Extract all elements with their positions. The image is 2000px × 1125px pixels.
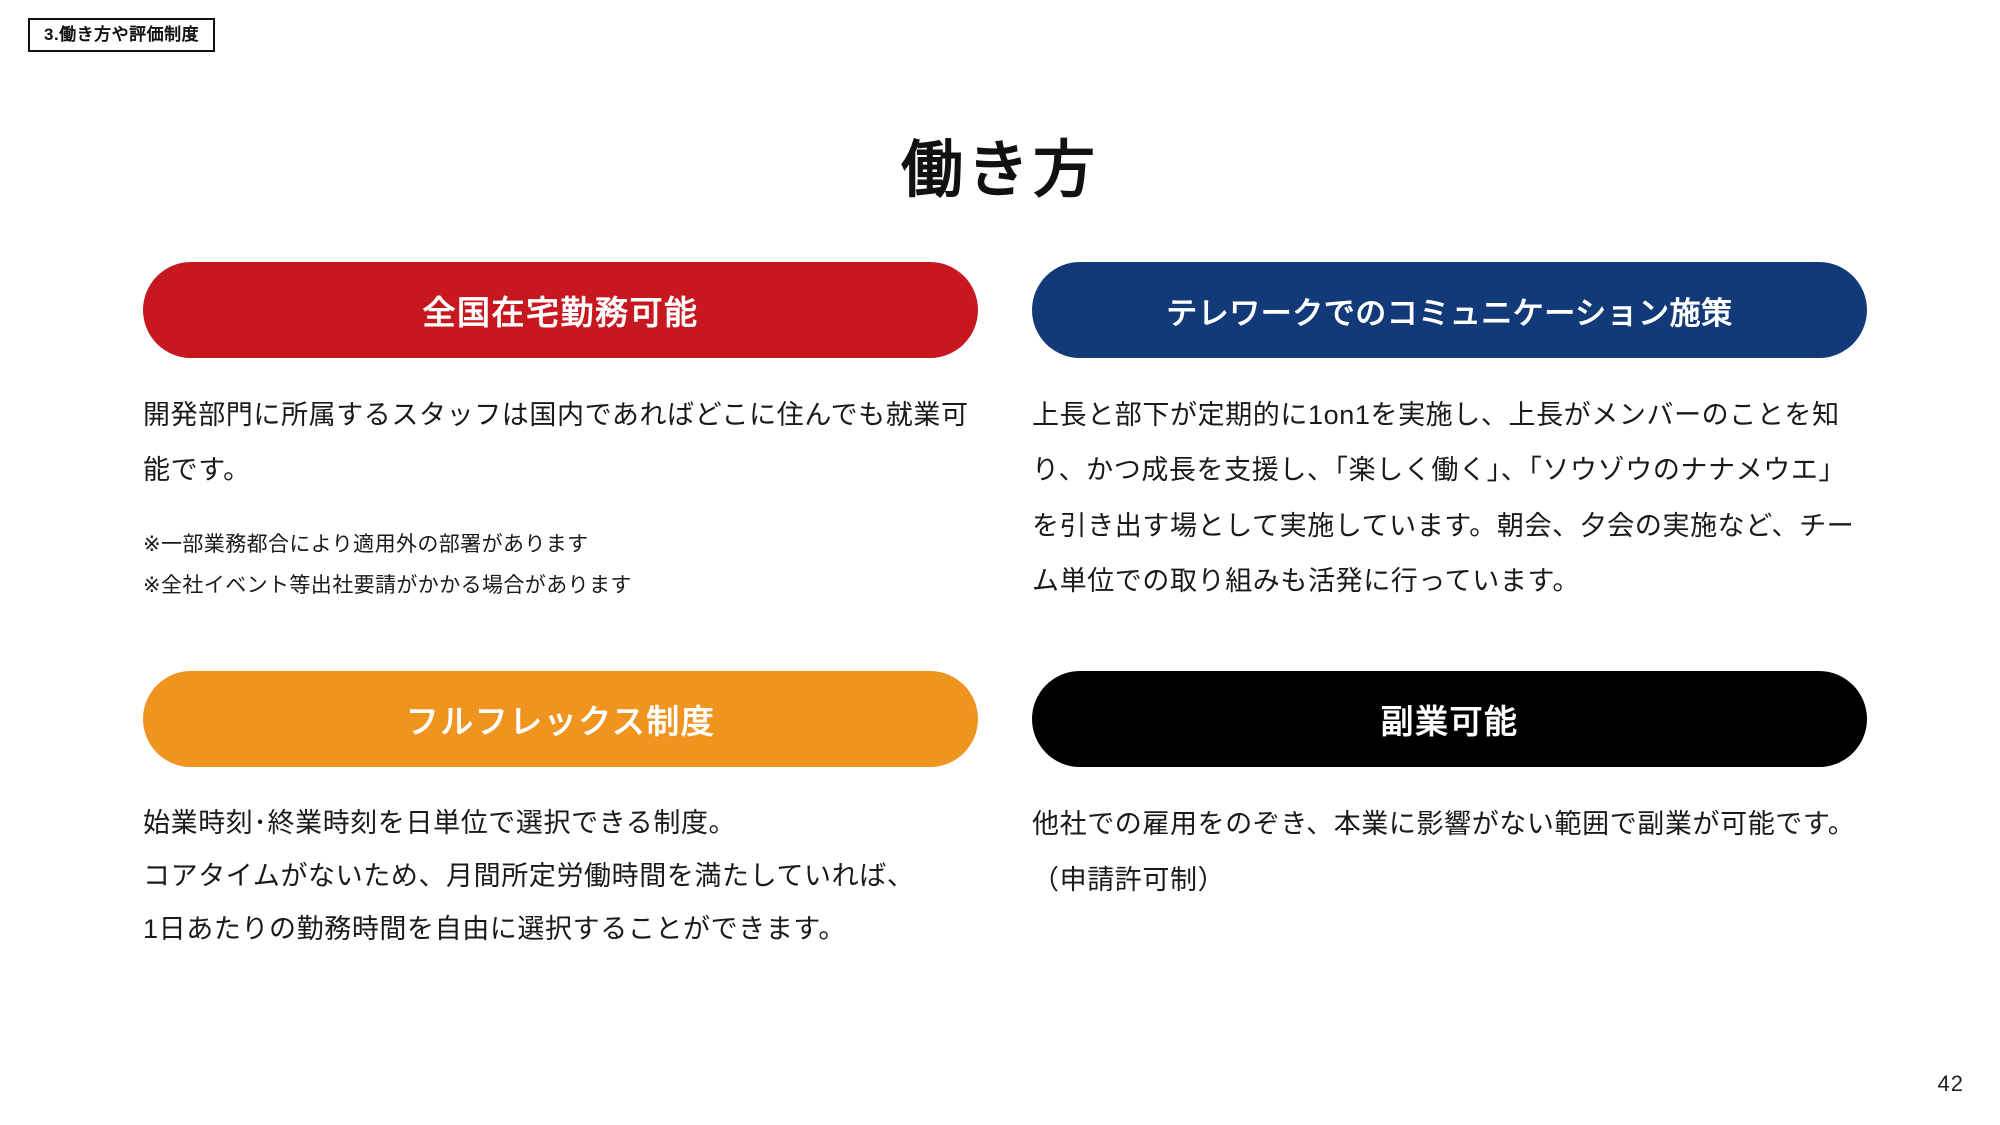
note-item: ※全社イベント等出社要請がかかる場合があります — [143, 566, 978, 607]
card-row-bottom: フルフレックス制度 始業時刻･終業時刻を日単位で選択できる制度。 コアタイムがな… — [143, 671, 1858, 955]
card-notes-remote-work: ※一部業務都合により適用外の部署があります ※全社イベント等出社要請がかかる場合… — [143, 525, 978, 607]
page-number: 42 — [1938, 1071, 1964, 1097]
card-telework-communication: テレワークでのコミュニケーション施策 上長と部下が定期的に1on1を実施し、上長… — [1032, 262, 1867, 609]
card-body-full-flex: 始業時刻･終業時刻を日単位で選択できる制度。 コアタイムがないため、月間所定労働… — [143, 797, 978, 955]
page-title: 働き方 — [0, 137, 2000, 205]
card-body-remote-work: 開発部門に所属するスタッフは国内であればどこに住んでも就業可能です。 — [143, 388, 978, 499]
note-item: ※一部業務都合により適用外の部署があります — [143, 525, 978, 566]
section-tag: 3.働き方や評価制度 — [28, 18, 215, 52]
card-heading-telework-communication: テレワークでのコミュニケーション施策 — [1032, 262, 1867, 358]
card-heading-full-flex: フルフレックス制度 — [143, 671, 978, 767]
card-side-job: 副業可能 他社での雇用をのぞき、本業に影響がない範囲で副業が可能です。（申請許可… — [1032, 671, 1867, 908]
card-body-telework-communication: 上長と部下が定期的に1on1を実施し、上長がメンバーのことを知り、かつ成長を支援… — [1032, 388, 1867, 609]
card-remote-work: 全国在宅勤務可能 開発部門に所属するスタッフは国内であればどこに住んでも就業可能… — [143, 262, 978, 607]
card-heading-side-job: 副業可能 — [1032, 671, 1867, 767]
card-body-side-job: 他社での雇用をのぞき、本業に影響がない範囲で副業が可能です。（申請許可制） — [1032, 797, 1867, 908]
card-row-top: 全国在宅勤務可能 開発部門に所属するスタッフは国内であればどこに住んでも就業可能… — [143, 262, 1858, 609]
card-heading-remote-work: 全国在宅勤務可能 — [143, 262, 978, 358]
row-spacer — [143, 609, 1858, 671]
card-full-flex: フルフレックス制度 始業時刻･終業時刻を日単位で選択できる制度。 コアタイムがな… — [143, 671, 978, 955]
content-area: 全国在宅勤務可能 開発部門に所属するスタッフは国内であればどこに住んでも就業可能… — [143, 262, 1858, 955]
